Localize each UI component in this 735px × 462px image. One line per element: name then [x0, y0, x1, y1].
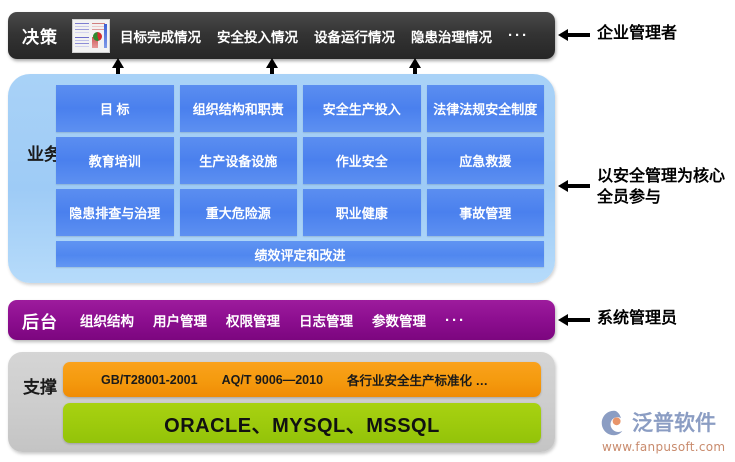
- standard-item-aqt9006[interactable]: AQ/T 9006—2010: [222, 373, 323, 387]
- backstage-item-parameter-management[interactable]: 参数管理: [372, 310, 426, 330]
- backstage-item-user-management[interactable]: 用户管理: [153, 310, 207, 330]
- logo-company-name: 泛普软件: [632, 413, 716, 434]
- business-cell-operation-safety[interactable]: 作业安全: [303, 137, 421, 184]
- business-cell-accident-management[interactable]: 事故管理: [427, 189, 545, 236]
- annotation-backstage-role: 系统管理员: [597, 307, 677, 328]
- logo-website-url: www.fanpusoft.com: [602, 440, 730, 454]
- business-cell-performance-evaluation-improvement[interactable]: 绩效评定和改进: [56, 241, 544, 267]
- business-row: 目 标 组织结构和职责 安全生产投入 法律法规安全制度: [56, 85, 544, 132]
- database-bar: ORACLE、MYSQL、MSSQL: [63, 403, 541, 443]
- diagram-canvas: 决策 目标完成情况 安全投入情况 设备运行情况 隐患治理情况 ··· 业务 目 …: [0, 0, 735, 462]
- decision-item-safety-investment[interactable]: 安全投入情况: [217, 26, 298, 46]
- backstage-more-icon[interactable]: ···: [445, 312, 466, 329]
- decision-label: 决策: [22, 23, 58, 48]
- business-layer: 业务 目 标 组织结构和职责 安全生产投入 法律法规安全制度 教育培训 生产设备…: [8, 74, 555, 283]
- business-cell-goal[interactable]: 目 标: [56, 85, 174, 132]
- support-layer: 支撑 GB/T28001-2001 AQ/T 9006—2010 各行业安全生产…: [8, 352, 555, 452]
- backstage-item-permission-management[interactable]: 权限管理: [226, 310, 280, 330]
- dashboard-chart-thumbnail-icon: [72, 19, 110, 53]
- business-cell-education-training[interactable]: 教育培训: [56, 137, 174, 184]
- left-arrow-decision-role: [558, 29, 590, 41]
- business-cell-safety-production-investment[interactable]: 安全生产投入: [303, 85, 421, 132]
- business-cell-production-equipment-facility[interactable]: 生产设备设施: [180, 137, 298, 184]
- decision-more-icon[interactable]: ···: [508, 27, 529, 44]
- fanpu-swirl-logo-icon: [600, 409, 628, 437]
- annotation-decision-role: 企业管理者: [597, 22, 677, 43]
- backstage-label: 后台: [22, 308, 58, 333]
- standards-bar: GB/T28001-2001 AQ/T 9006—2010 各行业安全生产标准化…: [63, 362, 541, 397]
- business-row: 教育培训 生产设备设施 作业安全 应急救援: [56, 137, 544, 184]
- decision-item-hazard-governance[interactable]: 隐患治理情况: [411, 26, 492, 46]
- business-cell-org-structure-duty[interactable]: 组织结构和职责: [180, 85, 298, 132]
- backstage-item-log-management[interactable]: 日志管理: [299, 310, 353, 330]
- business-cell-emergency-rescue[interactable]: 应急救援: [427, 137, 545, 184]
- standard-item-gbt28001[interactable]: GB/T28001-2001: [101, 373, 198, 387]
- business-cell-occupational-health[interactable]: 职业健康: [303, 189, 421, 236]
- business-row: 隐患排查与治理 重大危险源 职业健康 事故管理: [56, 189, 544, 236]
- annotation-business-role: 以安全管理为核心 全员参与: [597, 165, 725, 207]
- business-cell-major-hazard-source[interactable]: 重大危险源: [180, 189, 298, 236]
- business-module-grid: 目 标 组织结构和职责 安全生产投入 法律法规安全制度 教育培训 生产设备设施 …: [56, 85, 544, 267]
- left-arrow-business-role: [558, 180, 590, 192]
- standard-item-industry-standardization[interactable]: 各行业安全生产标准化 …: [347, 370, 488, 389]
- business-cell-hazard-investigation-governance[interactable]: 隐患排查与治理: [56, 189, 174, 236]
- business-cell-laws-regulations-safety-system[interactable]: 法律法规安全制度: [427, 85, 545, 132]
- backstage-layer: 后台 组织结构 用户管理 权限管理 日志管理 参数管理 ···: [8, 300, 555, 340]
- left-arrow-backstage-role: [558, 314, 590, 326]
- brand-logo: 泛普软件 www.fanpusoft.com: [600, 408, 730, 456]
- support-label: 支撑: [20, 376, 60, 400]
- decision-layer: 决策 目标完成情况 安全投入情况 设备运行情况 隐患治理情况 ···: [8, 12, 555, 59]
- decision-item-equipment-operation[interactable]: 设备运行情况: [314, 26, 395, 46]
- backstage-item-org-structure[interactable]: 组织结构: [80, 310, 134, 330]
- decision-item-goal-completion[interactable]: 目标完成情况: [120, 26, 201, 46]
